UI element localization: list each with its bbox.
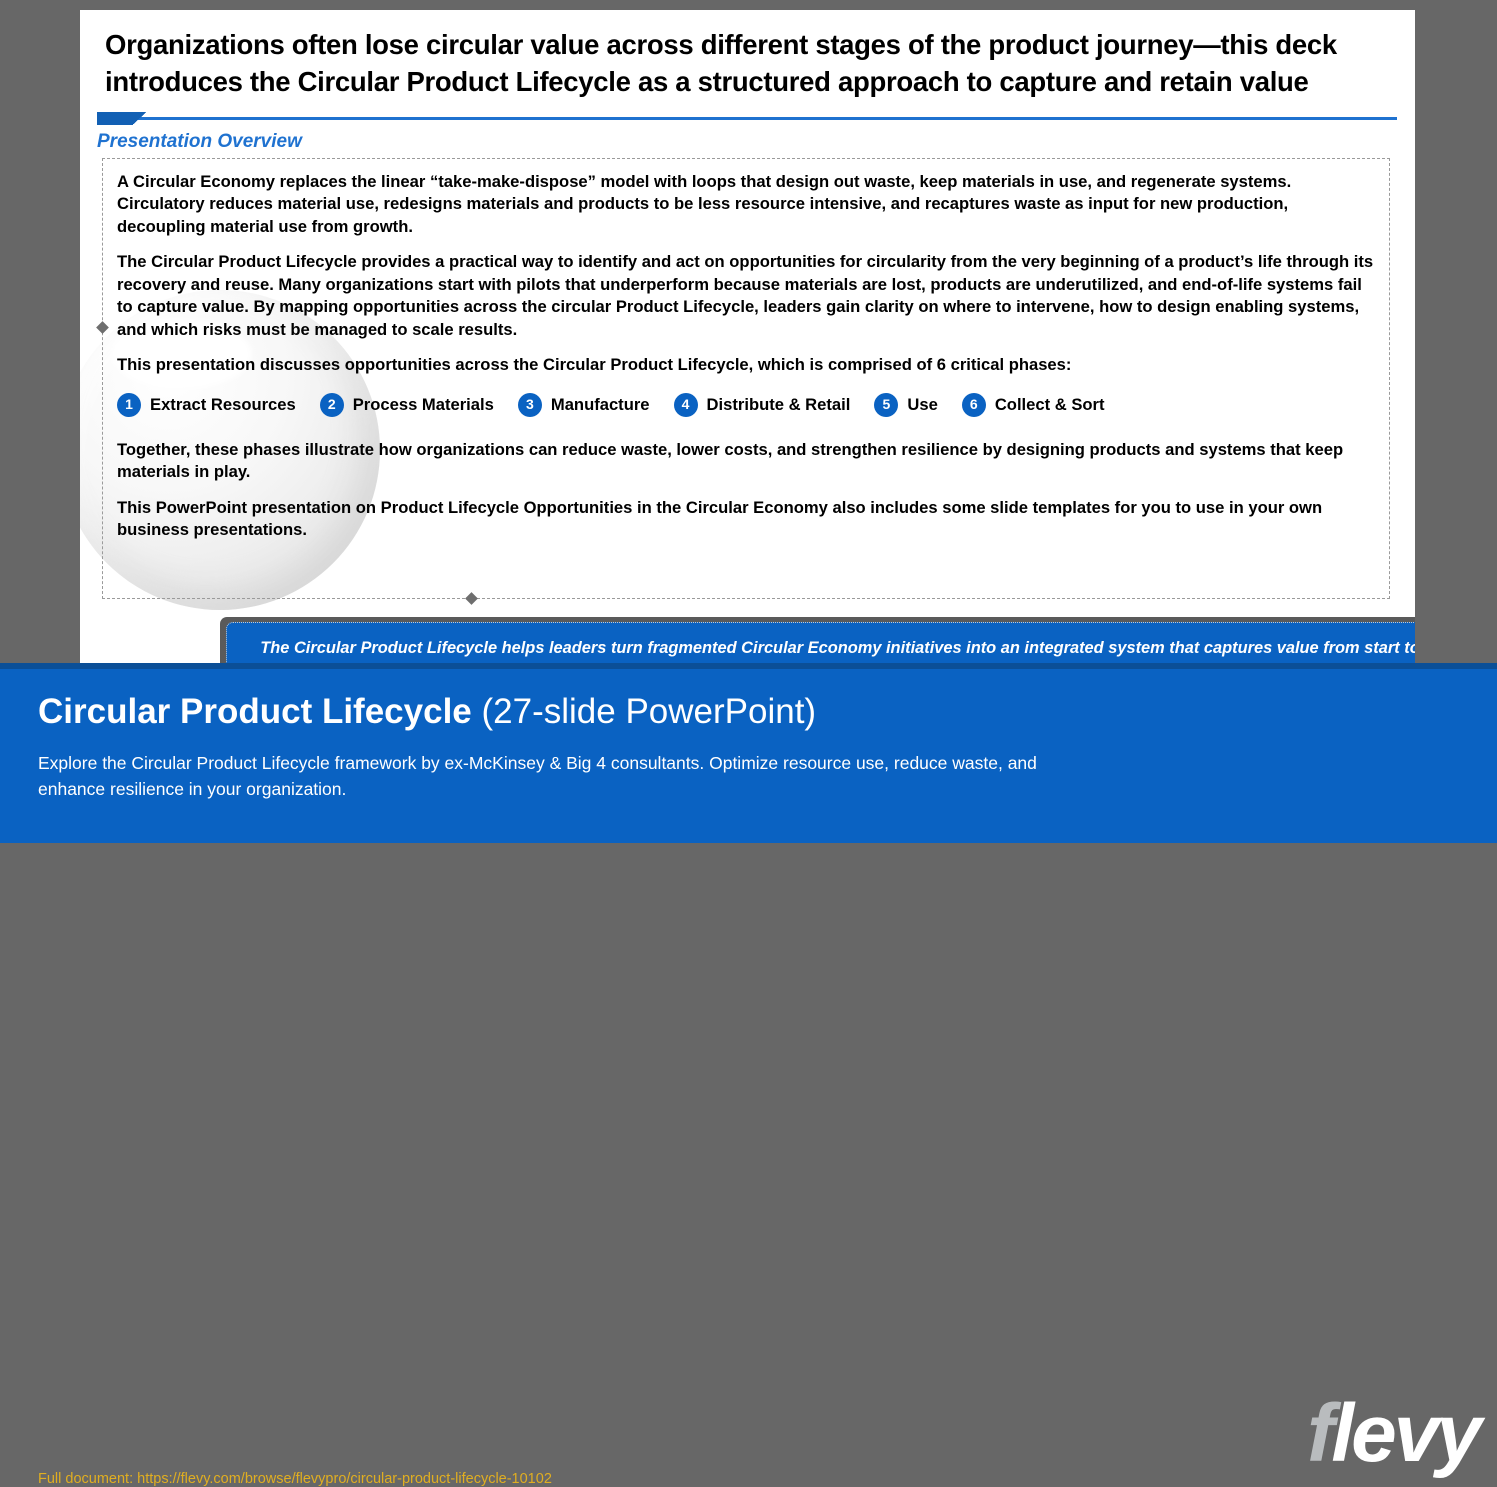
resize-handle-bottom[interactable]: [465, 592, 478, 605]
flevy-logo[interactable]: flevy: [1307, 1393, 1479, 1475]
resize-handle-left[interactable]: [96, 321, 109, 334]
phase-number-badge: 3: [518, 393, 542, 417]
phase-item-3[interactable]: 3 Manufacture: [518, 393, 650, 417]
banner-title-strong: Circular Product Lifecycle: [38, 692, 472, 731]
banner-title: Circular Product Lifecycle (27-slide Pow…: [38, 692, 816, 732]
overview-paragraph-5: This PowerPoint presentation on Product …: [117, 497, 1375, 542]
flevy-banner: Circular Product Lifecycle (27-slide Pow…: [0, 663, 1497, 843]
phase-label: Distribute & Retail: [707, 394, 851, 416]
phase-number-badge: 4: [674, 393, 698, 417]
phase-item-2[interactable]: 2 Process Materials: [320, 393, 494, 417]
phase-number-badge: 2: [320, 393, 344, 417]
header-divider-taper: [133, 112, 147, 125]
header-divider-line: [97, 117, 1397, 120]
banner-top-strip: [0, 663, 1497, 669]
slide-canvas: Organizations often lose circular value …: [80, 10, 1415, 700]
phase-item-1[interactable]: 1 Extract Resources: [117, 393, 296, 417]
phase-number-badge: 5: [874, 393, 898, 417]
phase-number-badge: 1: [117, 393, 141, 417]
header-divider: [97, 112, 1397, 126]
banner-title-light: (27-slide PowerPoint): [472, 692, 816, 731]
phase-list: 1 Extract Resources 2 Process Materials …: [117, 393, 1375, 417]
overview-paragraph-1: A Circular Economy replaces the linear “…: [117, 171, 1375, 238]
phase-label: Collect & Sort: [995, 394, 1105, 416]
banner-document-url[interactable]: Full document: https://flevy.com/browse/…: [38, 1471, 552, 1487]
phase-item-4[interactable]: 4 Distribute & Retail: [674, 393, 851, 417]
flevy-logo-f: f: [1307, 1388, 1331, 1479]
section-kicker: Presentation Overview: [97, 131, 302, 153]
banner-description: Explore the Circular Product Lifecycle f…: [38, 750, 1098, 803]
header-divider-block: [97, 112, 133, 125]
phase-number-badge: 6: [962, 393, 986, 417]
overview-text-box[interactable]: A Circular Economy replaces the linear “…: [102, 158, 1390, 599]
overview-body: A Circular Economy replaces the linear “…: [117, 171, 1375, 555]
overview-paragraph-3: This presentation discusses opportunitie…: [117, 354, 1375, 376]
phase-item-5[interactable]: 5 Use: [874, 393, 937, 417]
phase-label: Manufacture: [551, 394, 650, 416]
phase-label: Process Materials: [353, 394, 494, 416]
overview-paragraph-2: The Circular Product Lifecycle provides …: [117, 251, 1375, 341]
slide-title: Organizations often lose circular value …: [105, 26, 1395, 101]
overview-paragraph-4: Together, these phases illustrate how or…: [117, 439, 1375, 484]
flevy-logo-levy: levy: [1331, 1388, 1479, 1479]
phase-item-6[interactable]: 6 Collect & Sort: [962, 393, 1105, 417]
phase-label: Extract Resources: [150, 394, 296, 416]
phase-label: Use: [907, 394, 937, 416]
